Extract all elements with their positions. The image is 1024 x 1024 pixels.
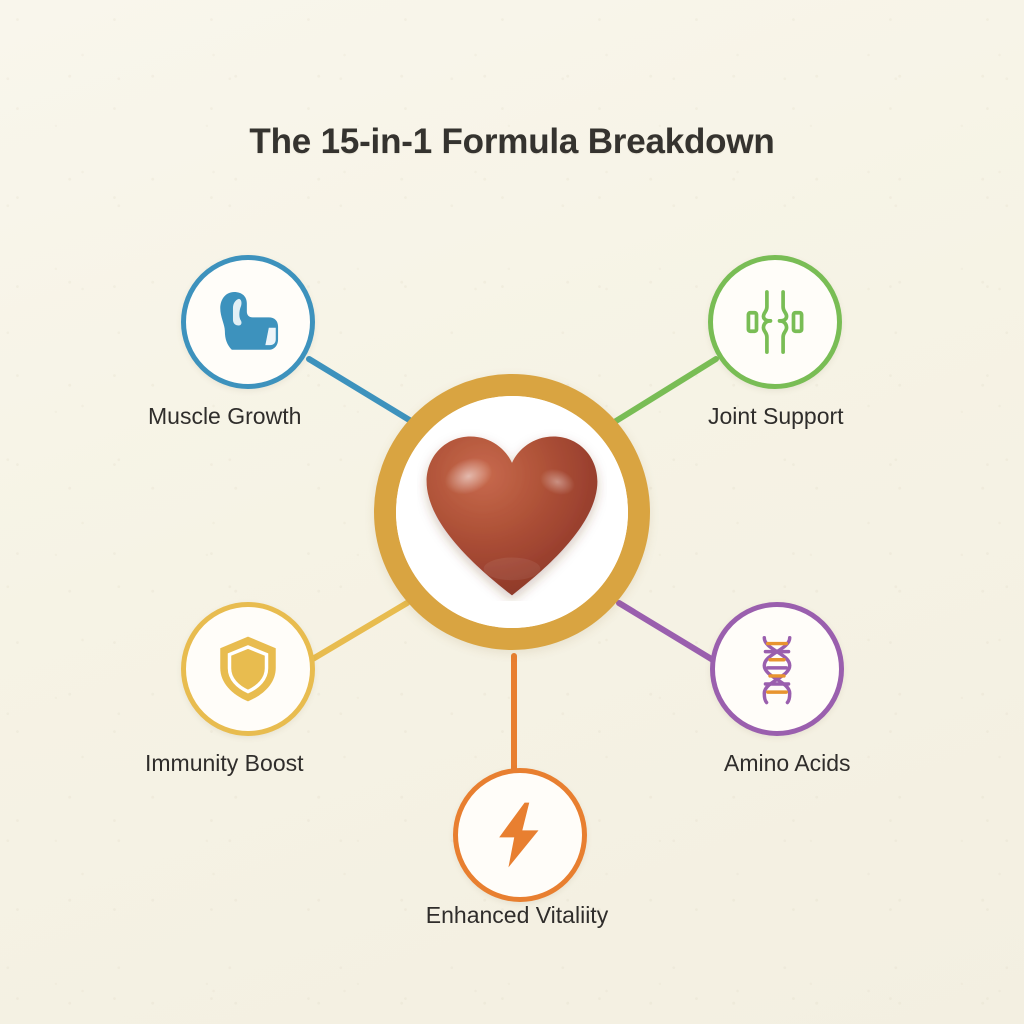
node-muscle-growth-label: Muscle Growth [148, 403, 448, 430]
shield-icon [211, 632, 285, 706]
node-joint-support-circle[interactable] [708, 255, 842, 389]
node-immunity-boost[interactable]: Immunity Boost [181, 602, 315, 736]
lightning-bolt-icon [483, 798, 557, 872]
knee-joint-icon [738, 285, 812, 359]
node-immunity-boost-label: Immunity Boost [145, 750, 445, 777]
node-amino-acids[interactable]: Amino Acids [710, 602, 844, 736]
node-enhanced-vitality-circle[interactable] [453, 768, 587, 902]
node-enhanced-vitality-label: Enhanced Vitaliity [367, 902, 667, 929]
node-amino-acids-circle[interactable] [710, 602, 844, 736]
page-title: The 15-in-1 Formula Breakdown [0, 122, 1024, 162]
heart-gummy-icon [417, 427, 607, 601]
node-immunity-boost-circle[interactable] [181, 602, 315, 736]
flexed-bicep-icon [211, 285, 285, 359]
dna-helix-icon [740, 632, 814, 706]
node-muscle-growth[interactable]: Muscle Growth [181, 255, 315, 389]
node-joint-support-label: Joint Support [708, 403, 1008, 430]
infographic-canvas: The 15-in-1 Formula Breakdown [0, 0, 1024, 1024]
hub-inner-circle [396, 396, 628, 628]
node-enhanced-vitality[interactable]: Enhanced Vitaliity [453, 768, 587, 902]
node-joint-support[interactable]: Joint Support [708, 255, 842, 389]
node-amino-acids-label: Amino Acids [724, 750, 1024, 777]
node-muscle-growth-circle[interactable] [181, 255, 315, 389]
